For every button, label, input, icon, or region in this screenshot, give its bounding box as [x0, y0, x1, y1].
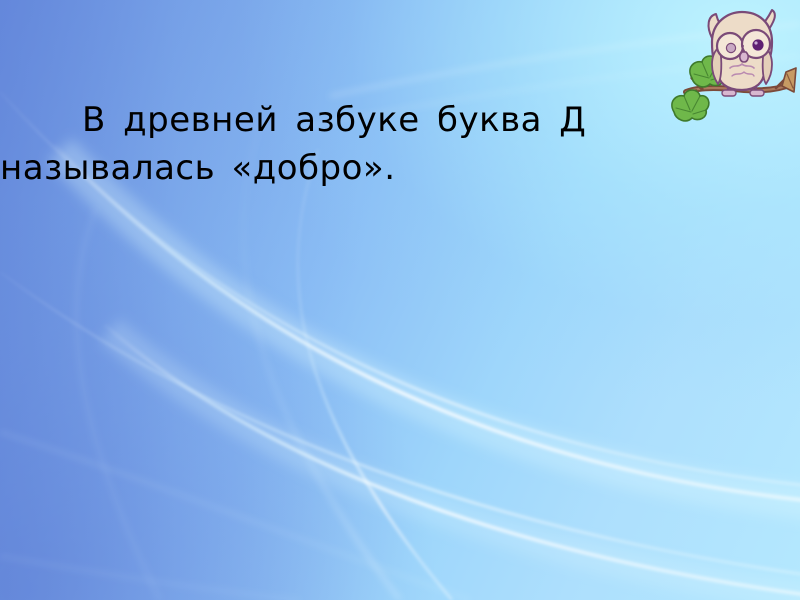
- presentation-slide: В древней азбуке буква Д называлась «доб…: [0, 0, 800, 600]
- owl-body: [709, 10, 775, 96]
- owl-on-branch-icon: [668, 0, 800, 126]
- leaf-cluster-lower: [672, 90, 709, 121]
- owl-clipart: [668, 0, 800, 126]
- slide-text-line-2: называлась «добро».: [0, 144, 800, 192]
